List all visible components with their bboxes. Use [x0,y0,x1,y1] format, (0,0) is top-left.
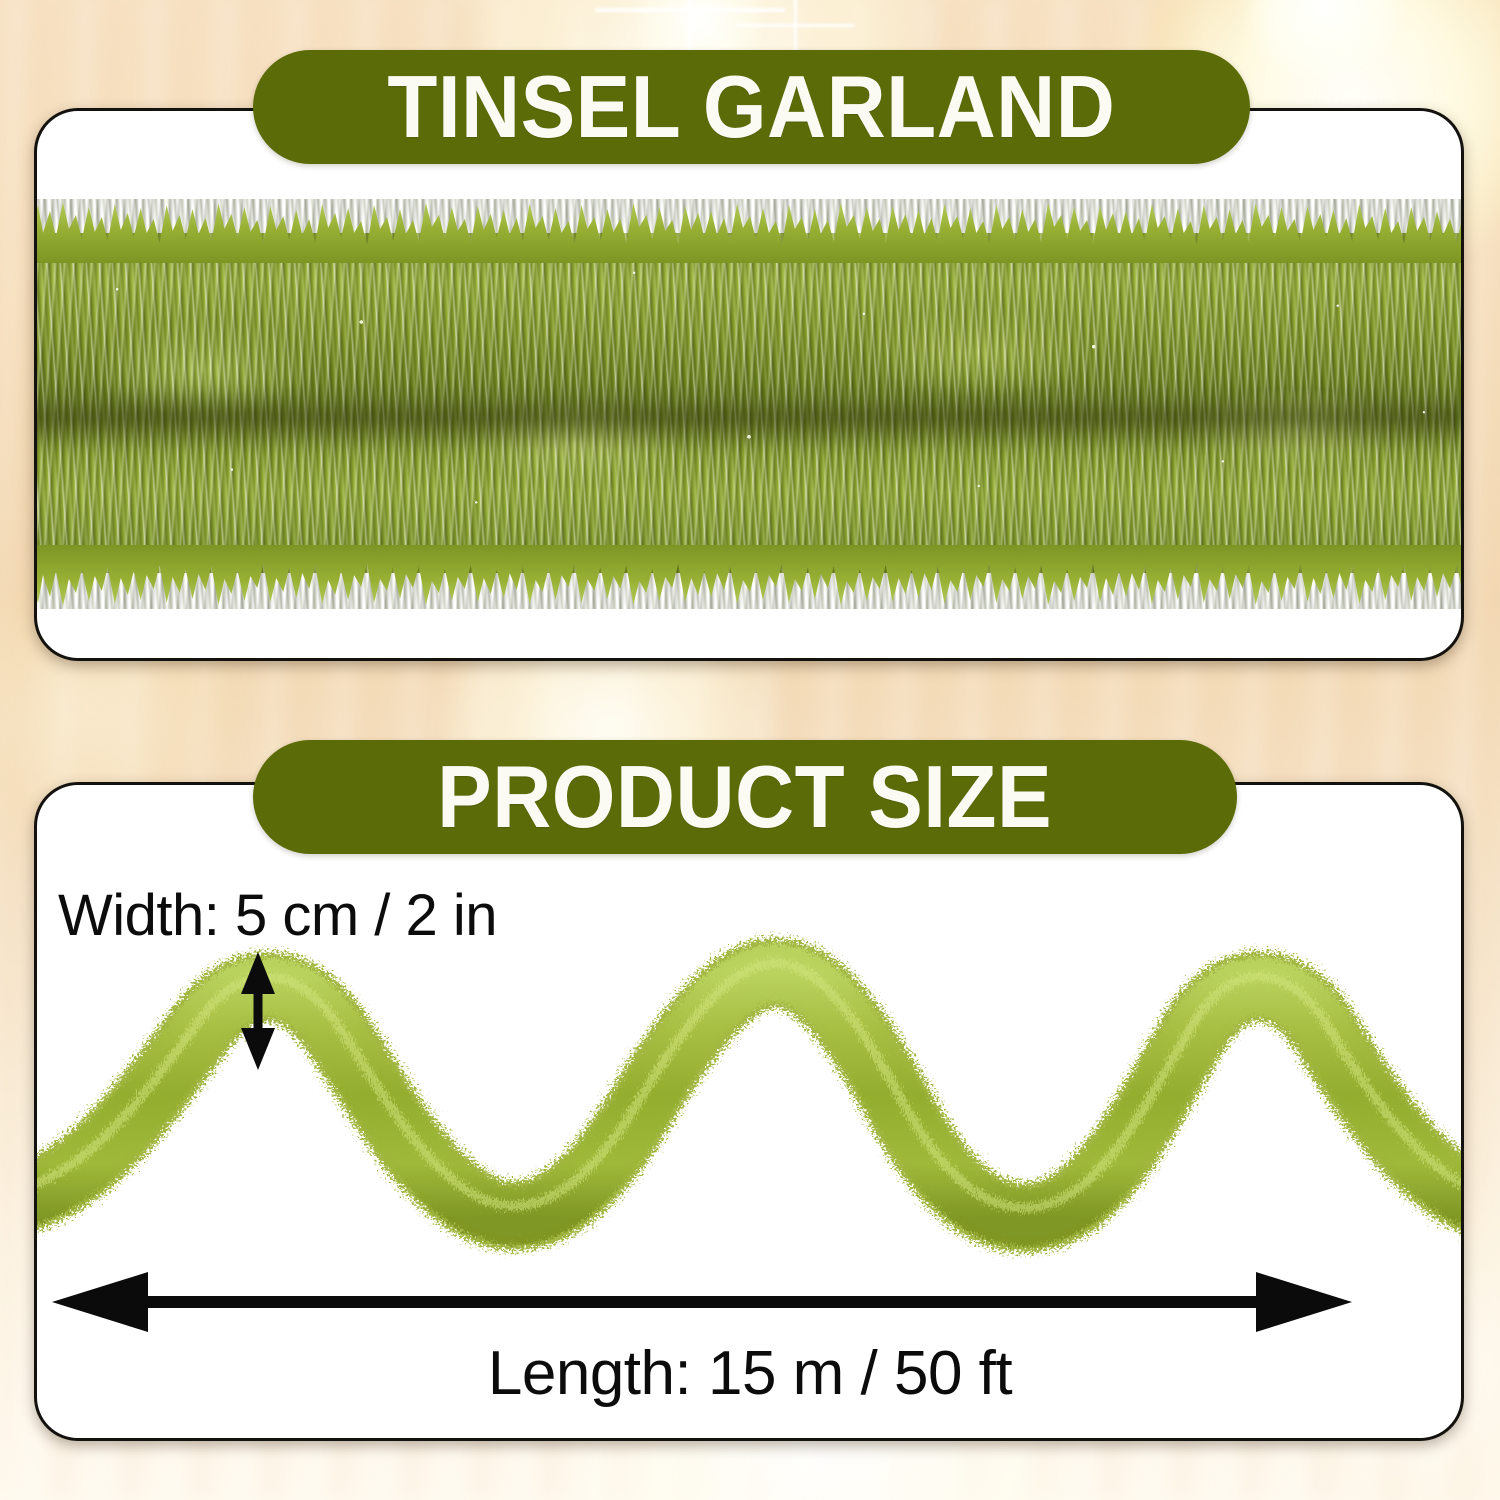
infographic-canvas: Width: 5 cm / 2 in Length: 15 m / 50 ft … [0,0,1500,1500]
width-measurement-label: Width: 5 cm / 2 in [58,882,497,949]
tinsel-garland-banner-label: TINSEL GARLAND [388,63,1116,151]
tinsel-top-edge [34,199,1464,263]
product-size-banner-label: PRODUCT SIZE [438,753,1053,841]
tinsel-strip-image [34,199,1464,609]
tinsel-bottom-edge [34,545,1464,609]
product-size-banner: PRODUCT SIZE [253,740,1237,854]
tinsel-garland-banner: TINSEL GARLAND [253,50,1250,164]
tinsel-garland-panel [34,108,1464,661]
arrow-left-right-icon [52,1272,1352,1332]
arrow-up-down-icon [228,952,288,1070]
length-measurement-label: Length: 15 m / 50 ft [0,1338,1500,1409]
